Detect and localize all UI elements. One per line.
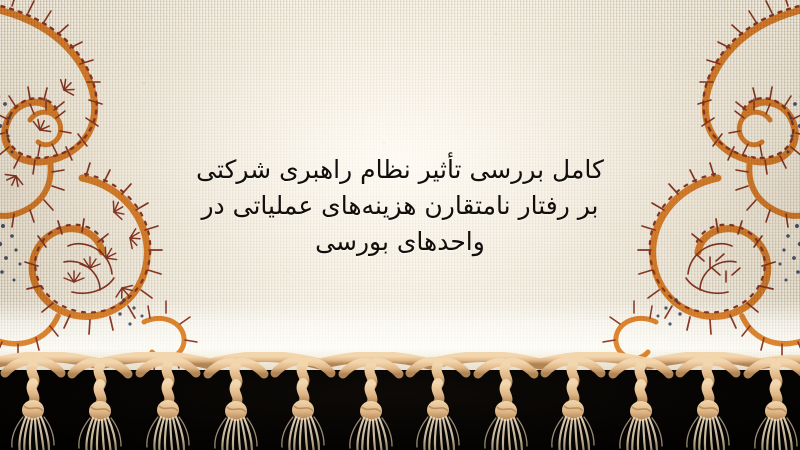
black-backdrop [0,370,800,450]
presentation-title: کامل بررسی تأثیر نظام راهبری شرکتی بر رف… [150,152,650,260]
title-line-2: بر رفتار نامتقارن هزینه‌های عملیاتی در [150,188,650,224]
title-line-3: واحدهای بورسی [150,224,650,260]
title-line-1: کامل بررسی تأثیر نظام راهبری شرکتی [150,152,650,188]
fabric-hem-highlight [0,300,800,378]
slide-canvas: کامل بررسی تأثیر نظام راهبری شرکتی بر رف… [0,0,800,450]
